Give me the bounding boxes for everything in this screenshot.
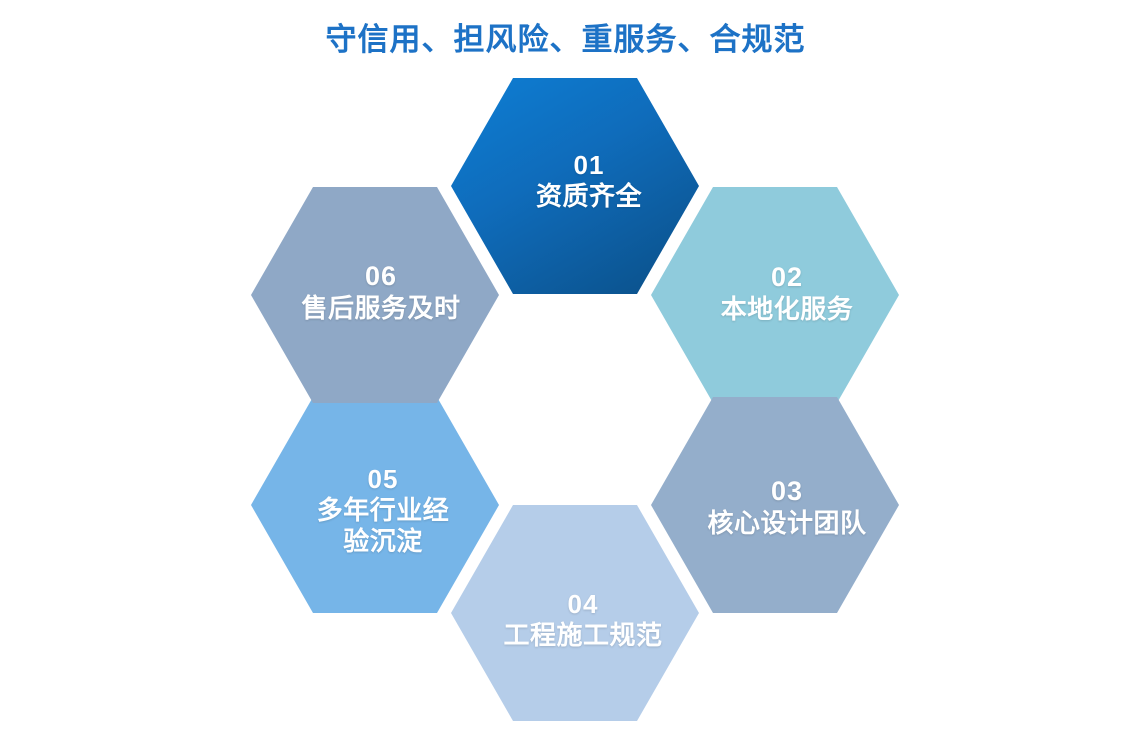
infographic-canvas: 守信用、担风险、重服务、合规范 01 资质齐全 02 本地化服务 03 核心设计… <box>0 0 1131 739</box>
hexagon-02[interactable]: 02 本地化服务 <box>651 187 899 403</box>
hexagon-06[interactable]: 06 售后服务及时 <box>251 187 499 403</box>
hexagon-05-shape <box>251 397 499 613</box>
page-title: 守信用、担风险、重服务、合规范 <box>0 14 1131 59</box>
hexagon-02-shape <box>651 187 899 403</box>
hexagon-05[interactable]: 05 多年行业经 验沉淀 <box>251 397 499 613</box>
hexagon-06-shape <box>251 187 499 403</box>
